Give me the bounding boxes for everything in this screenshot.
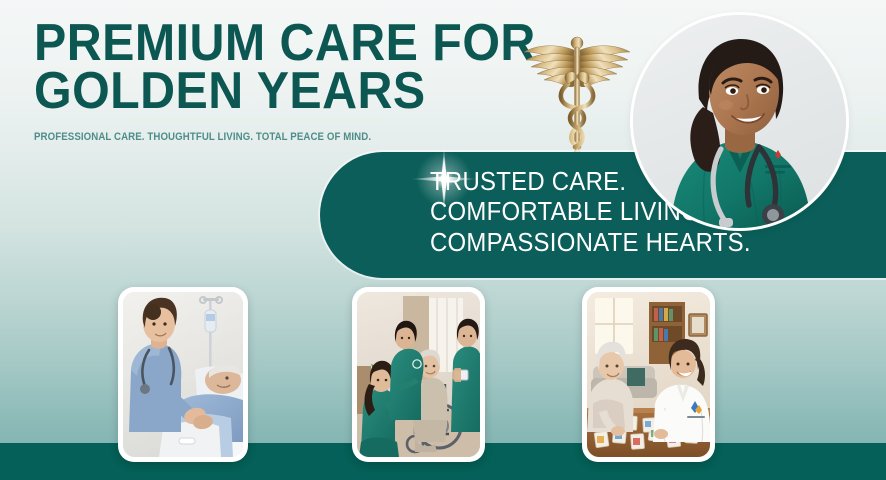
photo-card-memory-game — [582, 287, 715, 462]
photo-card-wheelchair-assistance — [352, 287, 485, 462]
page-title: PREMIUM CARE FOR GOLDEN YEARS — [34, 20, 480, 116]
healthcare-banner: PREMIUM CARE FOR GOLDEN YEARS PROFESSION… — [0, 0, 886, 480]
headline-block: PREMIUM CARE FOR GOLDEN YEARS PROFESSION… — [34, 20, 514, 143]
slogan-line-3: COMPASSIONATE HEARTS. — [430, 227, 826, 257]
photo-card-bedside-care — [118, 287, 248, 462]
headline-line-2: GOLDEN YEARS — [34, 68, 480, 116]
tagline: PROFESSIONAL CARE. THOUGHTFUL LIVING. TO… — [34, 131, 456, 143]
nurse-portrait — [633, 15, 846, 228]
caduceus-icon — [512, 14, 642, 174]
